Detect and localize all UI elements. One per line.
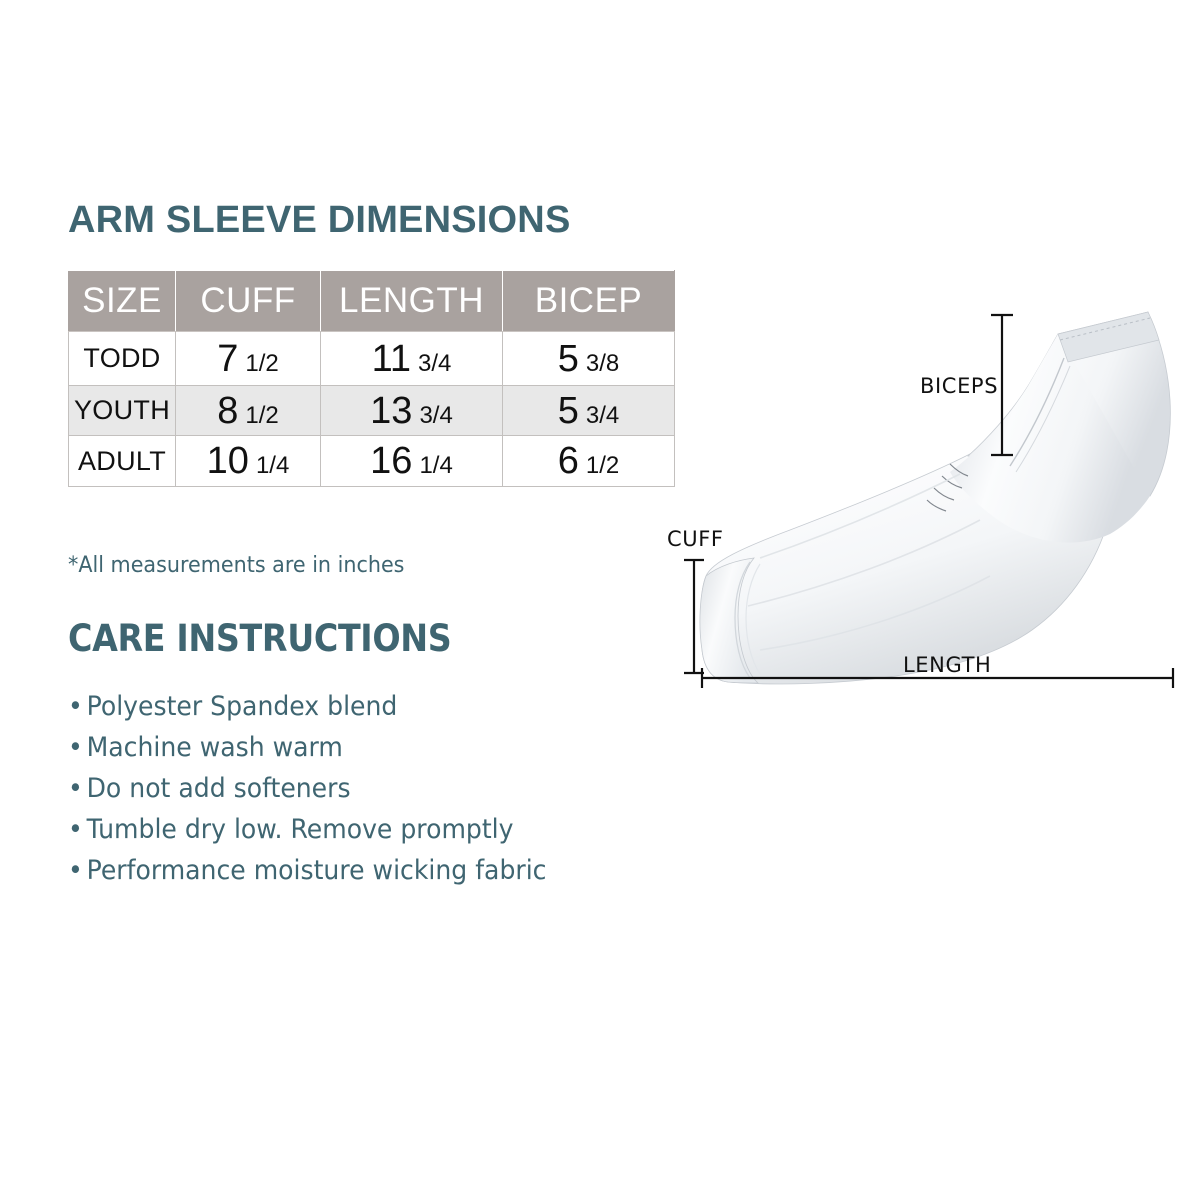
value-whole: 7	[217, 338, 238, 380]
cell-bicep-adult: 61/2	[503, 436, 675, 487]
cell-size-youth: YOUTH	[69, 386, 176, 436]
arm-sleeve-illustration	[650, 290, 1190, 700]
list-item: •Polyester Spandex blend	[68, 686, 546, 727]
column-header-bicep: BICEP	[503, 271, 675, 332]
value-whole: 11	[372, 338, 411, 380]
value-whole: 13	[370, 390, 412, 432]
value-fraction: 3/8	[586, 350, 619, 377]
care-instructions-list: •Polyester Spandex blend •Machine wash w…	[68, 686, 583, 891]
value-whole: 6	[558, 440, 579, 482]
size-chart-table: SIZE CUFF LENGTH BICEP TODD 71/2 113/4 5…	[68, 270, 675, 487]
value-whole: 5	[558, 338, 579, 380]
cell-cuff-adult: 101/4	[176, 436, 321, 487]
value-fraction: 1/2	[586, 452, 619, 479]
value-whole: 8	[217, 390, 238, 432]
column-header-length: LENGTH	[321, 271, 503, 332]
value-whole: 16	[370, 440, 412, 482]
bullet-icon: •	[68, 768, 87, 809]
value-fraction: 1/4	[256, 452, 289, 479]
bullet-icon: •	[68, 727, 87, 768]
arm-sleeve-diagram	[650, 290, 1190, 700]
cell-size-todd: TODD	[69, 332, 176, 386]
list-item: •Machine wash warm	[68, 727, 546, 768]
list-item-label: Performance moisture wicking fabric	[87, 855, 547, 886]
bullet-icon: •	[68, 850, 87, 891]
biceps-dimension-label: BICEPS	[920, 374, 998, 398]
cell-length-youth: 133/4	[321, 386, 503, 436]
cell-bicep-youth: 53/4	[503, 386, 675, 436]
cuff-dimension-label: CUFF	[667, 527, 724, 551]
table-row: ADULT 101/4 161/4 61/2	[69, 436, 675, 487]
list-item: •Tumble dry low. Remove promptly	[68, 809, 546, 850]
value-fraction: 3/4	[418, 350, 451, 377]
column-header-size: SIZE	[69, 271, 176, 332]
cell-size-adult: ADULT	[69, 436, 176, 487]
length-dimension-label: LENGTH	[903, 653, 991, 677]
measurement-units-footnote: *All measurements are in inches	[68, 553, 404, 578]
list-item-label: Tumble dry low. Remove promptly	[87, 814, 514, 845]
sleeve-body	[700, 312, 1170, 684]
cell-length-todd: 113/4	[321, 332, 503, 386]
page-title: ARM SLEEVE DIMENSIONS	[68, 199, 571, 242]
value-whole: 10	[207, 440, 249, 482]
bullet-icon: •	[68, 686, 87, 727]
list-item-label: Do not add softeners	[87, 773, 351, 804]
value-fraction: 3/4	[419, 402, 452, 429]
list-item-label: Machine wash warm	[87, 732, 343, 763]
list-item-label: Polyester Spandex blend	[87, 691, 398, 722]
value-fraction: 3/4	[586, 402, 619, 429]
value-whole: 5	[558, 390, 579, 432]
cell-cuff-youth: 81/2	[176, 386, 321, 436]
value-fraction: 1/2	[245, 402, 278, 429]
bullet-icon: •	[68, 809, 87, 850]
table-row: YOUTH 81/2 133/4 53/4	[69, 386, 675, 436]
sizing-chart-canvas: ARM SLEEVE DIMENSIONS SIZE CUFF LENGTH B…	[0, 0, 1200, 1200]
list-item: •Do not add softeners	[68, 768, 546, 809]
cell-bicep-todd: 53/8	[503, 332, 675, 386]
table-header-row: SIZE CUFF LENGTH BICEP	[69, 271, 675, 332]
care-instructions-title: CARE INSTRUCTIONS	[68, 617, 451, 660]
value-fraction: 1/4	[419, 452, 452, 479]
column-header-cuff: CUFF	[176, 271, 321, 332]
value-fraction: 1/2	[245, 350, 278, 377]
cell-length-adult: 161/4	[321, 436, 503, 487]
list-item: •Performance moisture wicking fabric	[68, 850, 546, 891]
cell-cuff-todd: 71/2	[176, 332, 321, 386]
table-row: TODD 71/2 113/4 53/8	[69, 332, 675, 386]
